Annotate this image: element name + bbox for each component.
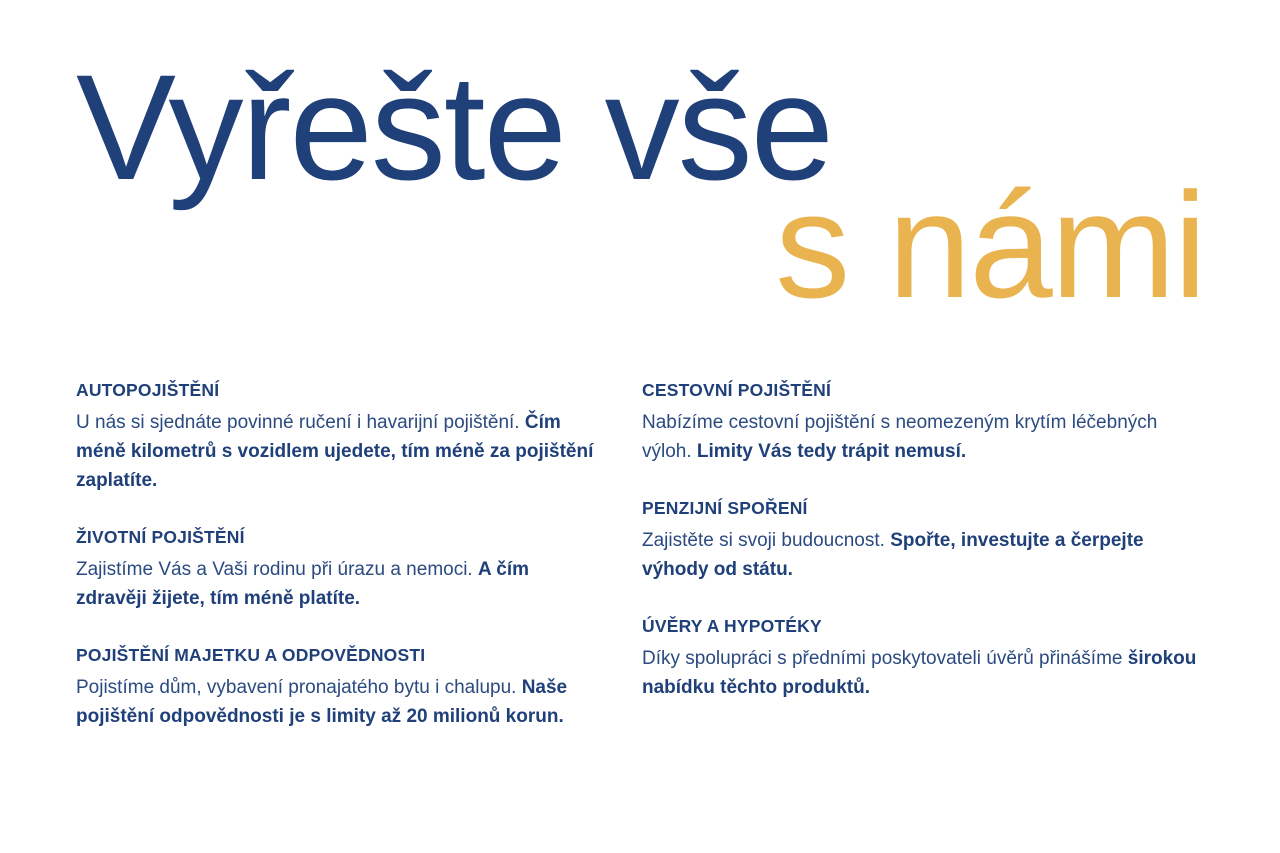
benefit-body-regular: Díky spolupráci s předními poskytovateli… — [642, 648, 1128, 669]
benefit-body: Zajistěte si svoji budoucnost. Spořte, i… — [642, 526, 1202, 584]
benefit-body: U nás si sjednáte povinné ručení i havar… — [76, 408, 596, 495]
promo-page: { "colors": { "navy": "#20407a", "amber"… — [0, 0, 1280, 853]
benefit-body: Díky spolupráci s předními poskytovateli… — [642, 644, 1202, 702]
benefit-title: ÚVĚRY A HYPOTÉKY — [642, 614, 1202, 638]
benefit-title: POJIŠTĚNÍ MAJETKU A ODPOVĚDNOSTI — [76, 643, 596, 667]
benefit-title: AUTOPOJIŠTĚNÍ — [76, 378, 596, 402]
benefit-block-pojisteni-majetku: POJIŠTĚNÍ MAJETKU A ODPOVĚDNOSTI Pojistí… — [76, 643, 596, 731]
benefit-block-cestovni-pojisteni: CESTOVNÍ POJIŠTĚNÍ Nabízíme cestovní poj… — [642, 378, 1202, 466]
benefit-body-regular: Zajistíme Vás a Vaši rodinu při úrazu a … — [76, 559, 478, 580]
benefit-title: CESTOVNÍ POJIŠTĚNÍ — [642, 378, 1202, 402]
benefit-block-uvery-a-hypoteky: ÚVĚRY A HYPOTÉKY Díky spolupráci s předn… — [642, 614, 1202, 702]
benefit-body-regular: U nás si sjednáte povinné ručení i havar… — [76, 412, 525, 433]
benefit-block-penzijni-sporeni: PENZIJNÍ SPOŘENÍ Zajistěte si svoji budo… — [642, 496, 1202, 584]
benefit-block-autopojisteni: AUTOPOJIŠTĚNÍ U nás si sjednáte povinné … — [76, 378, 596, 495]
benefit-body: Nabízíme cestovní pojištění s neomezeným… — [642, 408, 1202, 466]
benefits-column-right: CESTOVNÍ POJIŠTĚNÍ Nabízíme cestovní poj… — [642, 378, 1202, 702]
benefit-body-regular: Pojistíme dům, vybavení pronajatého bytu… — [76, 677, 522, 698]
benefit-title: PENZIJNÍ SPOŘENÍ — [642, 496, 1202, 520]
benefit-body-regular: Zajistěte si svoji budoucnost. — [642, 530, 890, 551]
hero-headline: Vyřešte vše s námi — [0, 0, 1280, 360]
benefit-block-zivotni-pojisteni: ŽIVOTNÍ POJIŠTĚNÍ Zajistíme Vás a Vaši r… — [76, 525, 596, 613]
benefit-body: Zajistíme Vás a Vaši rodinu při úrazu a … — [76, 555, 596, 613]
benefit-body: Pojistíme dům, vybavení pronajatého bytu… — [76, 673, 596, 731]
benefits-column-left: AUTOPOJIŠTĚNÍ U nás si sjednáte povinné … — [76, 378, 596, 731]
headline-line-accent: s námi — [0, 170, 1205, 320]
benefit-title: ŽIVOTNÍ POJIŠTĚNÍ — [76, 525, 596, 549]
benefit-body-bold: Limity Vás tedy trápit nemusí. — [697, 441, 966, 462]
